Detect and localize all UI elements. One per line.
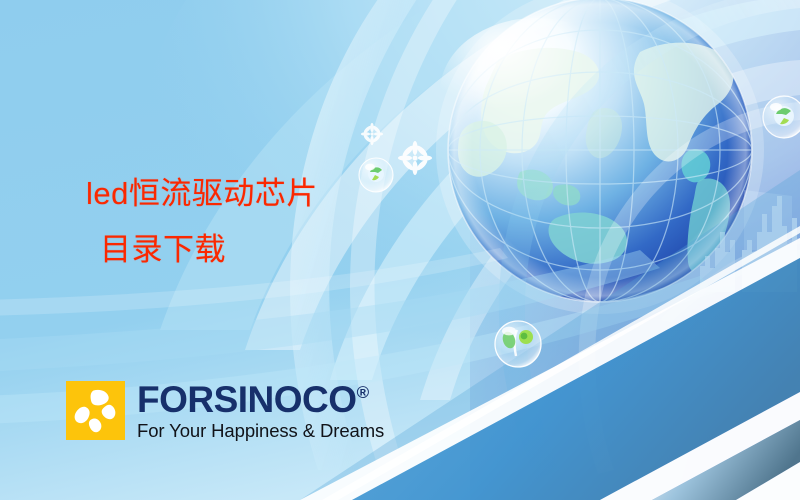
bubble-edge (763, 96, 800, 138)
forsinoco-wordmark: FORSINOCO® (137, 382, 384, 418)
headline-text: led恒流驱动芯片 目录下载 (86, 166, 416, 278)
headline-line-2: 目录下载 (100, 222, 416, 278)
forsinoco-logo[interactable]: FORSINOCO® For Your Happiness & Dreams (66, 381, 384, 442)
forsinoco-logo-text: FORSINOCO® For Your Happiness & Dreams (137, 381, 384, 442)
bubble-sprout (495, 321, 541, 367)
wordmark-text: FORSINOCO (137, 379, 357, 420)
headline-line-1: led恒流驱动芯片 (86, 176, 318, 211)
forsinoco-tagline: For Your Happiness & Dreams (137, 420, 384, 442)
registered-trademark-icon: ® (357, 383, 370, 402)
forsinoco-pinwheel-mark (66, 381, 125, 440)
slide-canvas: led恒流驱动芯片 目录下载 FORSINOCO® For Your Happi… (0, 0, 800, 500)
